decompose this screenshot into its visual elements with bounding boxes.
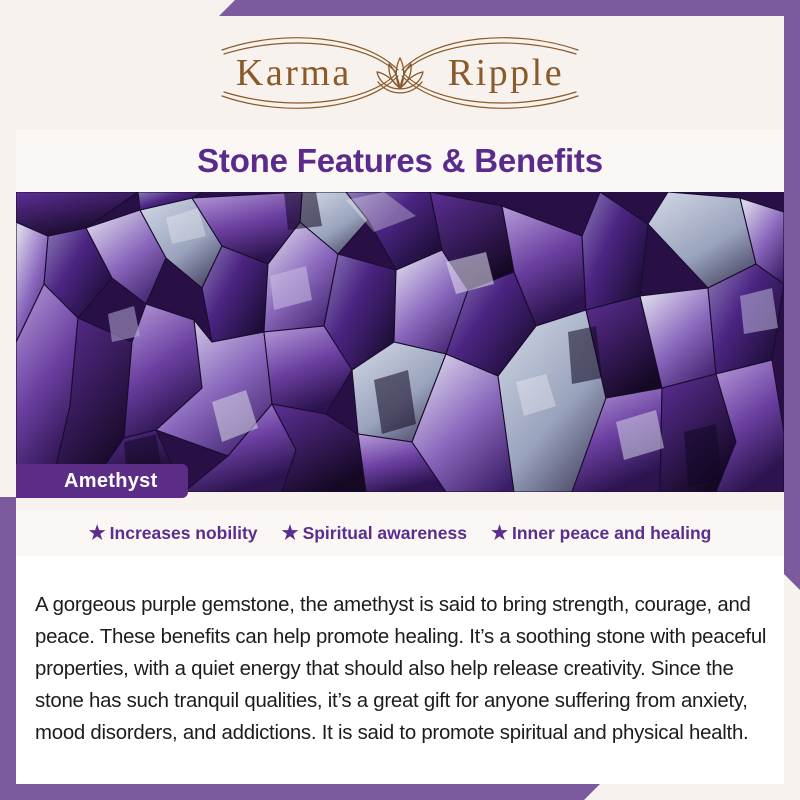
page-title: Stone Features & Benefits bbox=[197, 142, 603, 180]
star-icon: ★ bbox=[491, 524, 508, 543]
benefit-item-2: ★ Spiritual awareness bbox=[282, 523, 467, 544]
lotus-flower-icon bbox=[369, 52, 431, 96]
benefit-item-3: ★ Inner peace and healing bbox=[491, 523, 711, 544]
benefit-label: Inner peace and healing bbox=[512, 523, 711, 544]
frame-accent-top bbox=[219, 0, 800, 16]
frame-accent-bottom bbox=[0, 784, 600, 800]
poster-card: Karma Ripple Stone Features & Benefits bbox=[16, 16, 784, 784]
stone-name-banner: Amethyst bbox=[16, 464, 188, 498]
headline-band: Stone Features & Benefits bbox=[16, 130, 784, 192]
star-icon: ★ bbox=[89, 524, 106, 543]
stone-name-label: Amethyst bbox=[64, 470, 158, 493]
brand-name-first: Karma bbox=[236, 51, 352, 95]
amethyst-crystal-illustration bbox=[16, 192, 784, 492]
benefit-label: Spiritual awareness bbox=[303, 523, 467, 544]
frame-accent-right bbox=[784, 0, 800, 590]
brand-logo: Karma Ripple bbox=[16, 16, 784, 130]
brand-name-second: Ripple bbox=[448, 51, 564, 95]
stone-description: A gorgeous purple gemstone, the amethyst… bbox=[35, 589, 770, 749]
benefits-list: ★ Increases nobility ★ Spiritual awarene… bbox=[16, 510, 784, 556]
benefit-item-1: ★ Increases nobility bbox=[89, 523, 258, 544]
star-icon: ★ bbox=[282, 524, 299, 543]
frame-accent-left bbox=[0, 497, 16, 784]
product-info-poster: Karma Ripple Stone Features & Benefits bbox=[0, 0, 800, 800]
hero-image bbox=[16, 192, 784, 492]
benefit-label: Increases nobility bbox=[110, 523, 258, 544]
brand-logo-inner: Karma Ripple bbox=[190, 30, 610, 116]
description-panel: A gorgeous purple gemstone, the amethyst… bbox=[16, 556, 784, 784]
